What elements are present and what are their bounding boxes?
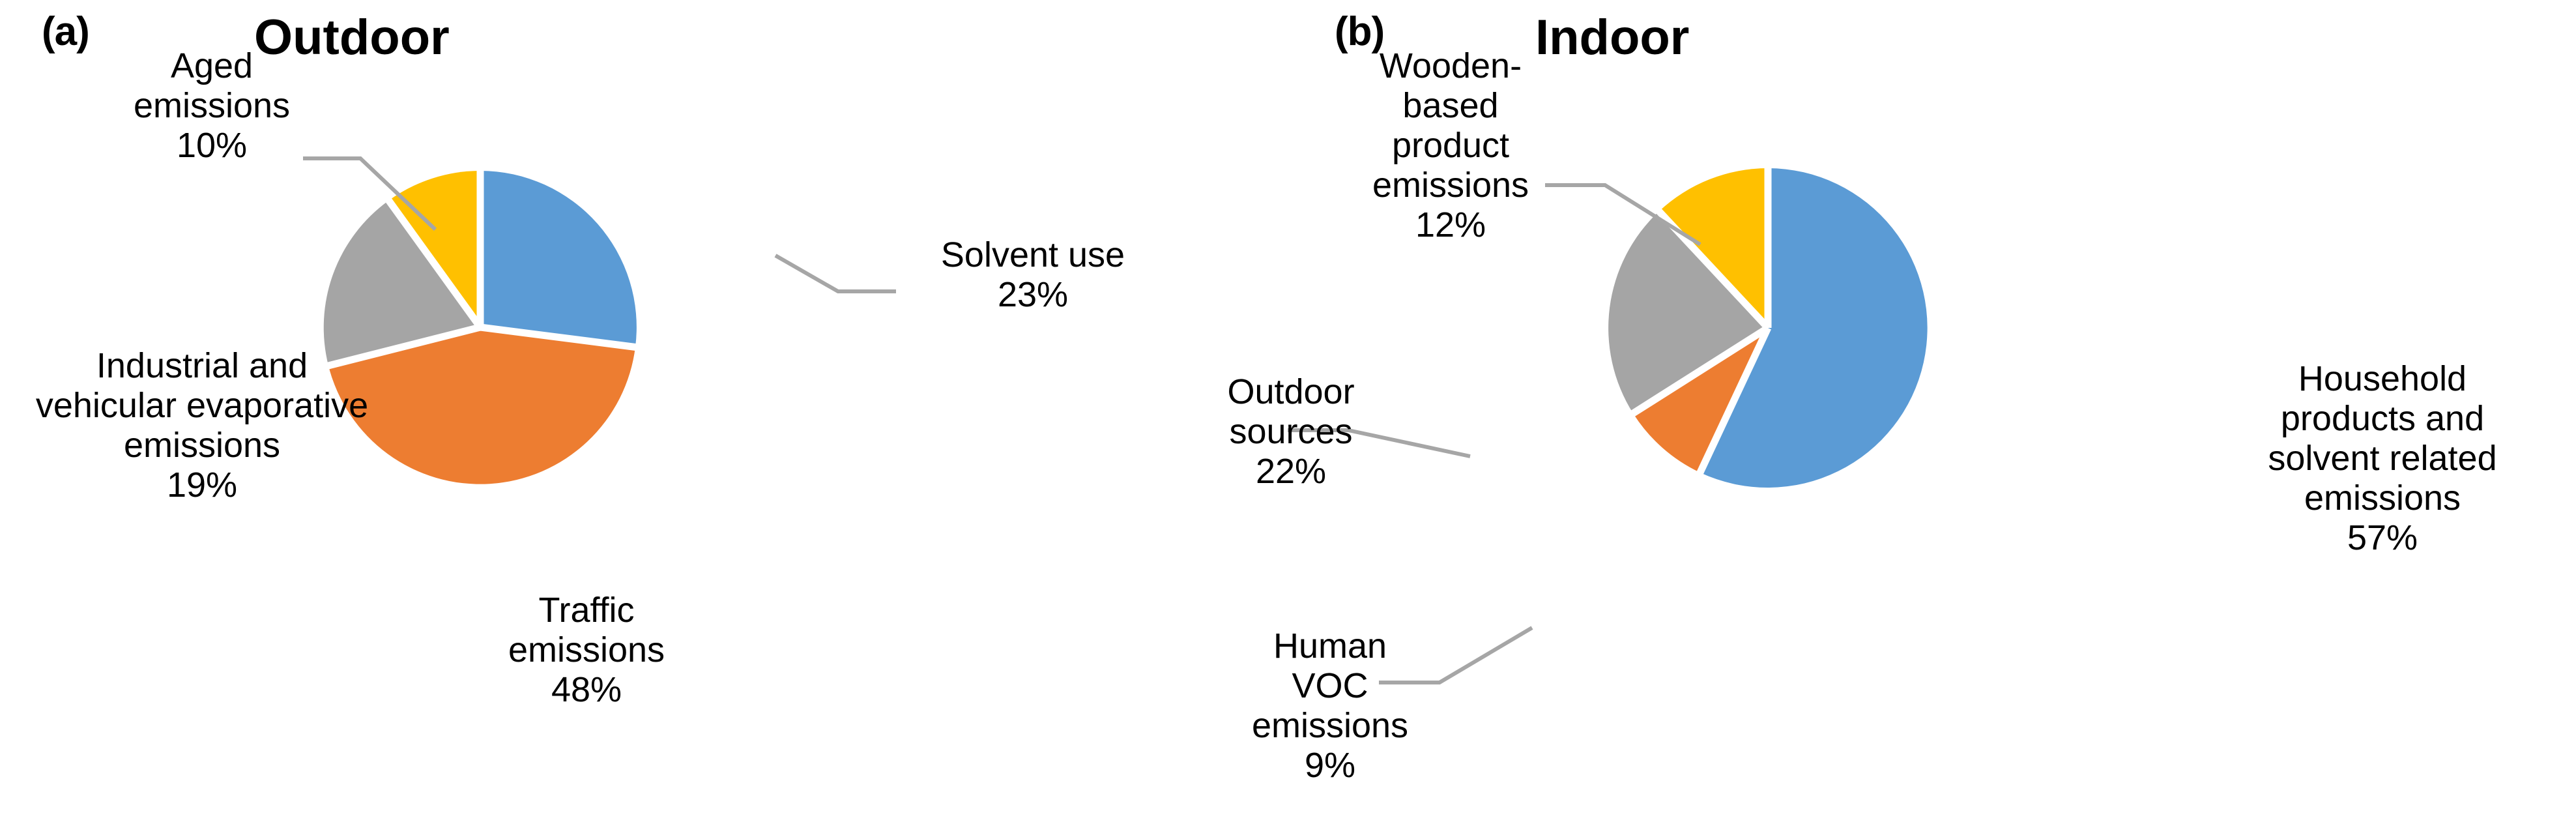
slice-label-aged-emissions-pct: 10%: [121, 126, 303, 166]
slice-label-outdoor-sources-name: Outdoor sources: [1227, 372, 1354, 451]
slice-label-traffic-emissions-name: Traffic emissions: [508, 591, 665, 669]
slice-label-wooden-based-product-name: Wooden- based product emissions: [1372, 46, 1529, 205]
chart-title-indoor: Indoor: [1535, 13, 1689, 63]
pie-slice-solvent-use[interactable]: [480, 171, 637, 347]
slice-label-household-products-pct: 57%: [2226, 518, 2539, 558]
leader-line-solvent-use: [775, 256, 896, 291]
panel-indoor: (b) Indoor Wooden- based product emissio…: [1288, 0, 2576, 837]
slice-label-industrial-evaporative-name: Industrial and vehicular evaporative emi…: [36, 346, 368, 465]
slice-label-traffic-emissions-pct: 48%: [456, 670, 717, 710]
two-pie-chart-figure: (a) Outdoor Aged emissions 10% Solvent u…: [0, 0, 2576, 837]
slice-label-aged-emissions: Aged emissions 10%: [121, 7, 303, 205]
slice-label-household-products: Household products and solvent related e…: [2226, 319, 2539, 598]
slice-label-wooden-based-product-pct: 12%: [1359, 205, 1542, 245]
slice-label-human-voc: Human VOC emissions 9%: [1239, 587, 1421, 825]
slice-label-solvent-use: Solvent use 23%: [909, 196, 1157, 355]
panel-tag-a: (a): [42, 12, 89, 52]
panel-outdoor: (a) Outdoor Aged emissions 10% Solvent u…: [0, 0, 1288, 837]
slice-label-industrial-evaporative-pct: 19%: [13, 465, 391, 505]
slice-label-household-products-name: Household products and solvent related e…: [2268, 359, 2496, 518]
slice-label-human-voc-name: Human VOC emissions: [1252, 626, 1408, 745]
slice-label-wooden-based-product: Wooden- based product emissions 12%: [1359, 7, 1542, 285]
slice-label-human-voc-pct: 9%: [1239, 746, 1421, 786]
slice-label-aged-emissions-name: Aged emissions: [134, 46, 290, 125]
slice-label-industrial-evaporative: Industrial and vehicular evaporative emi…: [13, 306, 391, 545]
slice-label-traffic-emissions: Traffic emissions 48%: [456, 551, 717, 750]
slice-label-outdoor-sources-pct: 22%: [1167, 452, 1415, 492]
slice-label-solvent-use-name: Solvent use: [941, 235, 1125, 274]
slice-label-solvent-use-pct: 23%: [909, 275, 1157, 315]
slice-label-outdoor-sources: Outdoor sources 22%: [1167, 332, 1415, 531]
